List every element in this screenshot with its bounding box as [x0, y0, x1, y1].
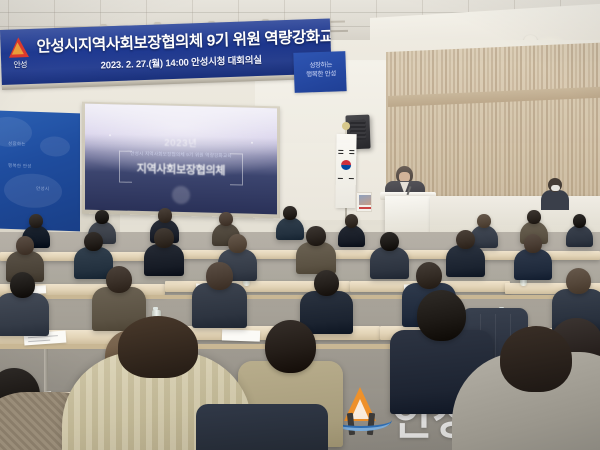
audience-member-head: [527, 210, 541, 224]
wood-slat: [462, 49, 464, 214]
wood-slat: [449, 49, 451, 214]
audience-member-head: [524, 234, 542, 253]
anseong-city-logo-icon: 안성: [6, 37, 33, 78]
audience-member-head: [95, 210, 109, 224]
audience-member-head: [29, 214, 43, 228]
wood-slat: [512, 46, 514, 211]
wood-slat: [592, 43, 594, 208]
wood-slat: [495, 47, 497, 212]
wood-slat: [520, 46, 522, 211]
audience-member-head: [219, 212, 233, 226]
audience-member-head: [84, 232, 103, 251]
wood-slat: [474, 48, 476, 213]
audience-member-body: [566, 225, 593, 247]
wood-slat: [445, 49, 447, 214]
audience-member-head: [106, 266, 132, 293]
foreground-attendee-head: [500, 326, 572, 392]
wood-slat: [571, 44, 573, 209]
korean-flag-icon: [335, 134, 356, 208]
audience-member-body: [514, 249, 552, 280]
wood-slat: [596, 43, 598, 208]
head-table-attendee: [540, 178, 570, 208]
wood-slat: [575, 44, 577, 209]
audience-member-body: [0, 293, 49, 336]
slide-title: 지역사회보장협의체: [85, 159, 277, 180]
projection-screen: 2023년 안성시 지역사회보장협의체 9기 위원 역량강화교육 지역사회보장협…: [85, 104, 277, 215]
wood-slat: [588, 43, 590, 208]
audience-member-head: [265, 320, 316, 373]
audience-member-head: [206, 262, 233, 290]
audience-member-head: [154, 228, 173, 248]
audience-member: [144, 228, 184, 281]
audience-member-head: [477, 214, 491, 228]
wood-slat: [537, 45, 539, 210]
wood-slat: [436, 50, 438, 215]
audience-member-head: [158, 208, 172, 223]
audience-member-head: [566, 268, 591, 294]
banner-logo-label: 안성: [7, 59, 33, 71]
wood-slat: [432, 50, 434, 215]
podium: [385, 196, 431, 236]
audience-member-head: [380, 232, 399, 251]
audience-member-head: [417, 290, 466, 341]
wood-slat: [483, 48, 485, 213]
audience-member-head: [456, 230, 475, 249]
wood-slat: [453, 49, 455, 214]
side-sign-line2: 행복한 안성: [299, 69, 343, 80]
audience-member-head: [10, 272, 35, 298]
audience-member: [514, 234, 552, 284]
wood-slat: [504, 47, 506, 212]
wood-slat: [428, 50, 430, 215]
conference-photo-scene: 성장하는 행복한 안성 안성시 안성 안성시지역사회보장협의체 9기 위원 역량…: [0, 0, 600, 450]
slide-emblem-icon: [172, 186, 190, 204]
wood-slat: [491, 47, 493, 212]
audience-member-head: [314, 270, 339, 296]
chair: [196, 404, 328, 450]
wood-slat: [499, 47, 501, 212]
audience-member: [338, 214, 365, 250]
wood-slat: [441, 50, 443, 215]
flag-finial-icon: [342, 122, 350, 130]
audience-member-head: [416, 262, 442, 289]
wood-slat: [470, 48, 472, 213]
audience-member-head: [573, 214, 586, 228]
audience-member-body: [338, 225, 365, 247]
foreground-attendee-head: [118, 316, 198, 378]
audience-member-head: [16, 236, 34, 255]
wood-slat: [525, 46, 527, 211]
event-banner: 안성 안성시지역사회보장협의체 9기 위원 역량강화교육 2023. 2. 27…: [0, 18, 332, 91]
wood-slat: [508, 47, 510, 212]
audience-member: [566, 214, 593, 250]
wood-slat: [466, 48, 468, 213]
wood-slat: [487, 48, 489, 213]
wood-slat: [478, 48, 480, 213]
audience-member-head: [228, 234, 247, 253]
stage-poster: [356, 192, 372, 212]
wood-slat: [457, 49, 459, 214]
audience-member-head: [345, 214, 358, 228]
wood-slat: [533, 45, 535, 210]
wood-slat: [529, 46, 531, 211]
audience-member-body: [144, 244, 184, 277]
wall-side-sign: 성장하는 행복한 안성: [293, 51, 346, 93]
audience-member: [0, 272, 49, 342]
audience-member-head: [283, 206, 297, 220]
wood-slat: [516, 46, 518, 211]
audience-member-head: [306, 226, 325, 246]
wood-slat: [583, 43, 585, 208]
wood-slat: [579, 43, 581, 208]
